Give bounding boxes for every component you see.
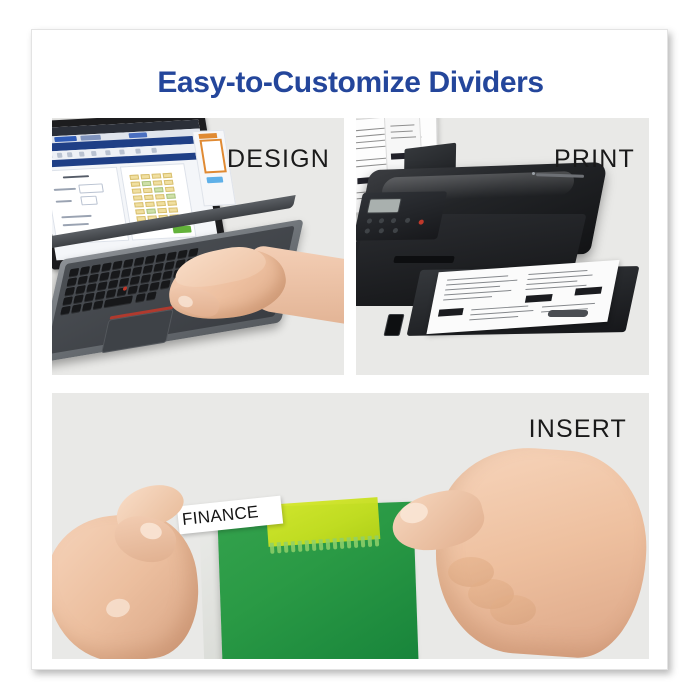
palm <box>429 442 649 659</box>
toolbar-icon[interactable] <box>135 149 141 154</box>
printer-display <box>367 198 402 214</box>
toolbar-icon[interactable] <box>91 151 97 156</box>
panel-print[interactable]: PRINT <box>356 118 649 375</box>
template-cell[interactable] <box>142 181 152 186</box>
panel-design[interactable]: DESIGN <box>52 118 344 375</box>
page-title: Easy-to-Customize Dividers <box>32 66 669 100</box>
toolbar-icon[interactable] <box>105 150 111 155</box>
hand-icon <box>168 244 344 348</box>
form-label <box>56 200 72 203</box>
form-label <box>54 188 76 191</box>
form-input[interactable] <box>78 183 104 193</box>
template-cell[interactable] <box>151 173 161 178</box>
template-cell[interactable] <box>153 180 163 185</box>
control-button[interactable] <box>378 218 384 223</box>
template-cell[interactable] <box>165 187 175 192</box>
tray-handle[interactable] <box>547 310 589 317</box>
template-cell[interactable] <box>168 207 178 212</box>
panel-insert[interactable]: FINANCE INSERT <box>52 393 649 659</box>
lid-indicator <box>532 172 535 175</box>
hand-icon-left <box>58 471 218 659</box>
paper-exit-slot <box>393 256 455 263</box>
template-cell[interactable] <box>167 200 177 205</box>
form-heading <box>63 175 89 178</box>
laptop-trackpad[interactable] <box>101 309 174 354</box>
template-cell[interactable] <box>145 202 155 207</box>
template-cell[interactable] <box>154 187 164 192</box>
toolbar-icon[interactable] <box>119 149 125 154</box>
template-cell[interactable] <box>164 180 174 185</box>
control-button[interactable] <box>392 228 398 233</box>
template-cell[interactable] <box>132 188 142 193</box>
toolbar-icon[interactable] <box>52 153 53 158</box>
template-cell[interactable] <box>166 194 176 199</box>
template-tab-preview <box>198 133 217 139</box>
template-cell[interactable] <box>134 202 144 207</box>
template-cell[interactable] <box>146 208 156 213</box>
power-button[interactable] <box>418 220 424 225</box>
template-cell[interactable] <box>133 195 143 200</box>
app-tab[interactable] <box>128 132 147 138</box>
control-button[interactable] <box>366 218 372 223</box>
screenshot-root: Easy-to-Customize Dividers <box>0 0 700 700</box>
hand-icon-right <box>382 429 649 659</box>
control-button[interactable] <box>390 218 396 223</box>
trackpoint-icon[interactable] <box>123 286 128 291</box>
template-cell[interactable] <box>144 195 154 200</box>
template-thumbnail[interactable] <box>199 139 226 174</box>
toolbar-icon[interactable] <box>79 152 85 157</box>
template-cell[interactable] <box>135 209 145 214</box>
form-input[interactable] <box>80 196 98 206</box>
control-panel-icon[interactable] <box>356 191 447 240</box>
control-button[interactable] <box>364 228 370 233</box>
template-cell[interactable] <box>140 174 150 179</box>
finger <box>490 595 536 625</box>
toolbar-icon[interactable] <box>67 152 73 157</box>
toolbar-icon[interactable] <box>151 148 157 153</box>
panel-label-design: DESIGN <box>227 145 330 174</box>
template-cell[interactable] <box>131 181 141 186</box>
panel-label-insert: INSERT <box>529 415 627 444</box>
control-button[interactable] <box>405 218 411 223</box>
toolbar-icon[interactable] <box>57 153 63 158</box>
side-action-button[interactable] <box>206 177 223 184</box>
form-label <box>61 215 91 219</box>
template-cell[interactable] <box>157 208 167 213</box>
panel-label-print: PRINT <box>554 145 635 174</box>
template-cell[interactable] <box>163 173 173 178</box>
template-cell[interactable] <box>155 194 165 199</box>
product-image-card: Easy-to-Customize Dividers <box>31 29 668 670</box>
template-cell[interactable] <box>143 188 153 193</box>
control-button[interactable] <box>378 228 384 233</box>
template-cell[interactable] <box>129 175 139 180</box>
usb-port <box>383 314 404 336</box>
form-label <box>63 223 89 226</box>
template-cell[interactable] <box>156 201 166 206</box>
